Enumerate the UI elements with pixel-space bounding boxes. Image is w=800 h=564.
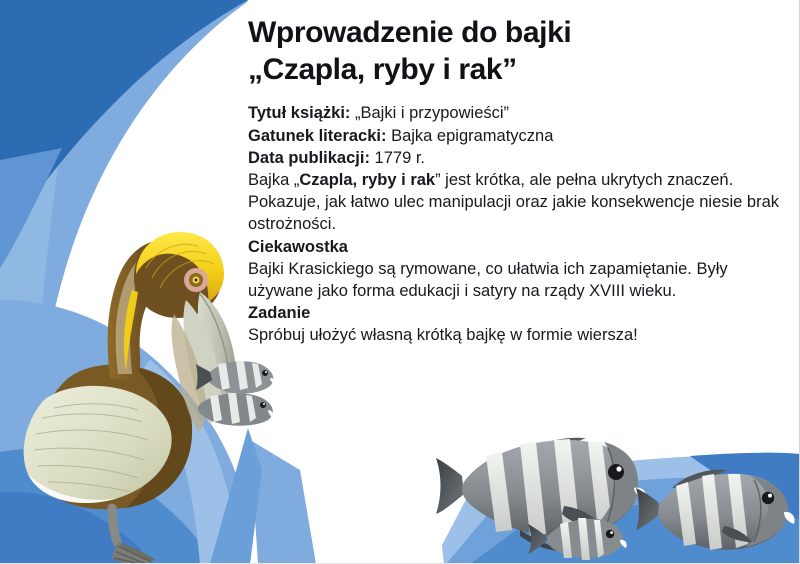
fish-medium — [636, 470, 795, 550]
fish-medium-tail — [636, 488, 660, 530]
slide: Wprowadzenie do bajki „Czapla, ryby i ra… — [0, 0, 800, 564]
field-book-title: Tytuł książki: „Bajki i przypowieści” — [248, 102, 782, 124]
field-genre-label: Gatunek literacki: — [248, 127, 386, 145]
beak-fish-lower — [198, 393, 273, 426]
section-task-heading: Zadanie — [248, 302, 782, 324]
section-trivia: Ciekawostka Bajki Krasickiego są rymowan… — [248, 236, 782, 303]
section-task-text: Spróbuj ułożyć własną krótką bajkę w for… — [248, 326, 638, 344]
section-trivia-heading: Ciekawostka — [248, 236, 782, 258]
intro-pre: Bajka „ — [248, 171, 299, 189]
section-task: Zadanie Spróbuj ułożyć własną krótką baj… — [248, 302, 782, 346]
fish-near-beak-illustration — [196, 356, 300, 430]
field-book-title-label: Tytuł książki: — [248, 104, 350, 122]
beak-fish-upper — [196, 361, 275, 394]
fish-large-eye — [608, 464, 624, 480]
fish-group-illustration — [436, 432, 800, 564]
fish-medium-eye — [762, 492, 774, 504]
field-genre-value: Bajka epigramatyczna — [386, 127, 553, 145]
pelican-leg — [112, 508, 118, 544]
section-trivia-text: Bajki Krasickiego są rymowane, co ułatwi… — [248, 260, 728, 300]
bg-shape-bottom-white-notch — [316, 496, 444, 563]
field-genre: Gatunek literacki: Bajka epigramatyczna — [248, 125, 782, 147]
field-book-title-value: „Bajki i przypowieści” — [350, 104, 509, 122]
intro-paragraph: Bajka „Czapla, ryby i rak” jest krótka, … — [248, 169, 782, 236]
field-publication-date-label: Data publikacji: — [248, 149, 370, 167]
fish-small-eye — [606, 530, 614, 538]
body-text: Tytuł książki: „Bajki i przypowieści” Ga… — [248, 102, 782, 346]
intro-fable-title: Czapla, ryby i rak — [299, 171, 435, 189]
field-publication-date-value: 1779 r. — [370, 149, 425, 167]
page-title: Wprowadzenie do bajki „Czapla, ryby i ra… — [248, 14, 782, 88]
page-title-line-1: Wprowadzenie do bajki — [248, 16, 571, 49]
field-publication-date: Data publikacji: 1779 r. — [248, 147, 782, 169]
text-content: Wprowadzenie do bajki „Czapla, ryby i ra… — [248, 14, 782, 346]
page-title-line-2: „Czapla, ryby i rak” — [248, 51, 782, 88]
fish-large-tail — [436, 458, 464, 514]
